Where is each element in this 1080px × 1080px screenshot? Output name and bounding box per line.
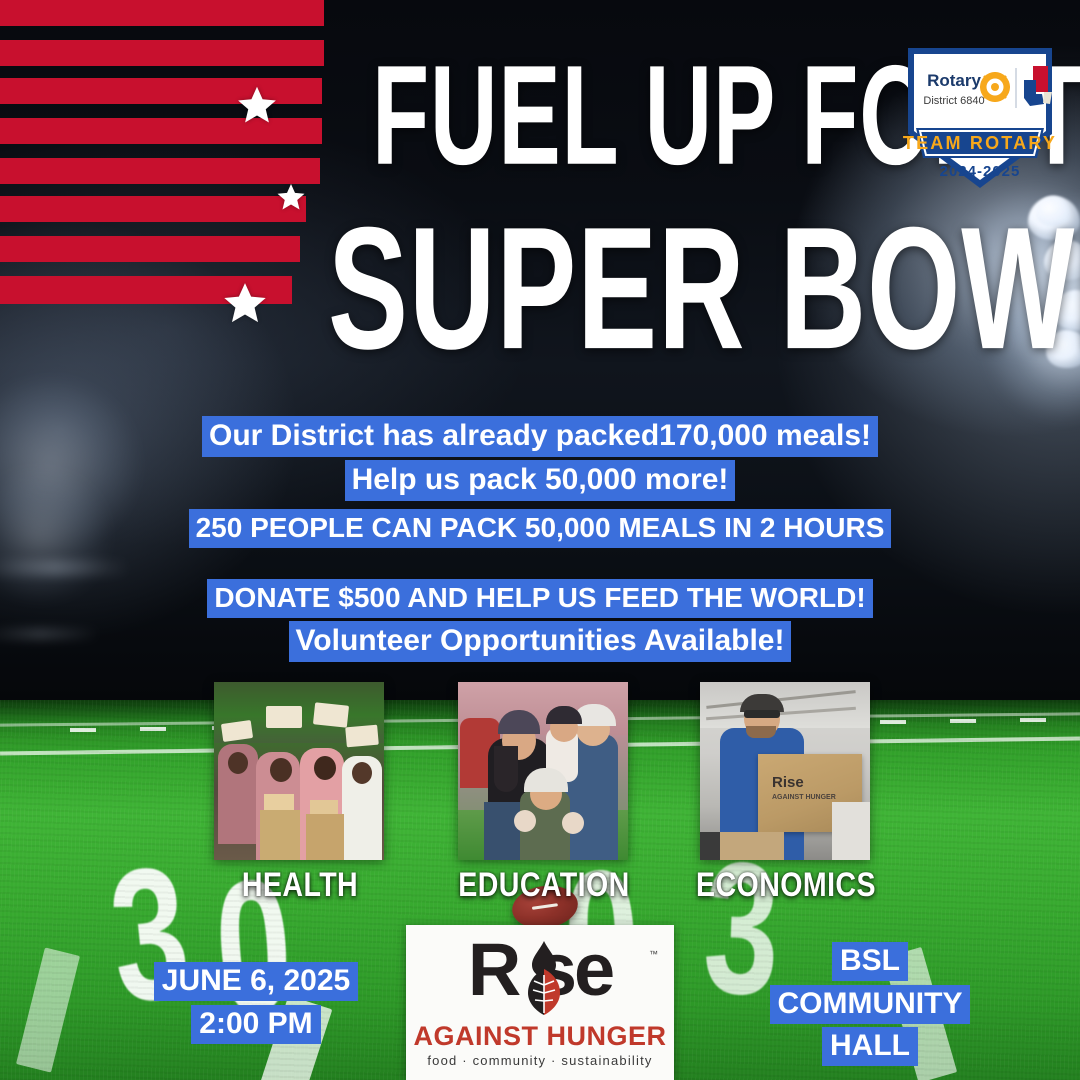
flag-stripe — [0, 158, 320, 184]
category-label-economics: ECONOMICS — [685, 866, 887, 905]
message-line: Our District has already packed170,000 m… — [202, 416, 878, 457]
flag-star-icon — [222, 280, 268, 326]
event-datetime-badge: JUNE 6, 2025 2:00 PM — [128, 960, 384, 1045]
rotary-org-name: Rotary — [927, 71, 981, 90]
venue-line-3: HALL — [822, 1027, 918, 1066]
rotary-years-text: 2024-2025 — [940, 163, 1021, 180]
category-label-education: EDUCATION — [443, 866, 645, 905]
flag-stripe — [0, 0, 324, 26]
venue-line-2: COMMUNITY — [770, 985, 971, 1024]
flag-stripe — [0, 40, 324, 66]
category-photo-education — [458, 682, 628, 860]
rotary-wheel-icon — [980, 72, 1010, 102]
rotary-banner-text: TEAM ROTARY — [903, 133, 1057, 153]
message-block-3: DONATE $500 AND HELP US FEED THE WORLD! … — [0, 578, 1080, 663]
category-label-health: HEALTH — [199, 866, 401, 905]
rise-tagline: food · community · sustainability — [406, 1053, 674, 1068]
event-venue-badge: BSL COMMUNITY HALL — [742, 940, 998, 1068]
venue-line-1: BSL — [832, 942, 908, 981]
rise-subtitle: AGAINST HUNGER — [406, 1021, 674, 1052]
category-photo-economics: Rise AGAINST HUNGER — [700, 682, 870, 860]
event-date: JUNE 6, 2025 — [154, 962, 358, 1001]
message-block-2: 250 PEOPLE CAN PACK 50,000 MEALS IN 2 HO… — [0, 508, 1080, 549]
message-line: 250 PEOPLE CAN PACK 50,000 MEALS IN 2 HO… — [189, 509, 892, 548]
hash-mark — [70, 728, 96, 732]
lens-flare-streak — [0, 560, 130, 576]
flag-stripe — [0, 236, 300, 262]
rotary-team-badge: Rotary District 6840 TEAM ROTARY 2024 — [896, 38, 1064, 198]
rotary-district-label: District 6840 — [923, 95, 984, 107]
message-line: Volunteer Opportunities Available! — [289, 621, 792, 662]
message-line: Help us pack 50,000 more! — [345, 460, 736, 501]
message-line: DONATE $500 AND HELP US FEED THE WORLD! — [207, 579, 872, 618]
hash-mark — [140, 727, 166, 731]
rise-against-hunger-logo: ™ Rise AGAINST HUNGER food · community ·… — [406, 925, 674, 1080]
flag-star-icon — [276, 182, 306, 212]
wheat-droplet-icon — [516, 939, 572, 1019]
yard-line — [16, 947, 80, 1072]
flag-star-icon — [236, 84, 278, 126]
hash-mark — [1020, 718, 1046, 722]
poster-canvas: FUEL UP FOR THE SUPER BOWL Rotary Distri… — [0, 0, 1080, 1080]
hash-mark — [880, 720, 906, 724]
flag-stripe — [0, 196, 306, 222]
headline-line-2: SUPER BOWL — [328, 188, 1080, 389]
message-block-1: Our District has already packed170,000 m… — [0, 414, 1080, 502]
american-flag-graphic — [0, 0, 324, 312]
category-photo-health — [214, 682, 384, 860]
event-time: 2:00 PM — [191, 1005, 320, 1044]
hash-mark — [950, 719, 976, 723]
